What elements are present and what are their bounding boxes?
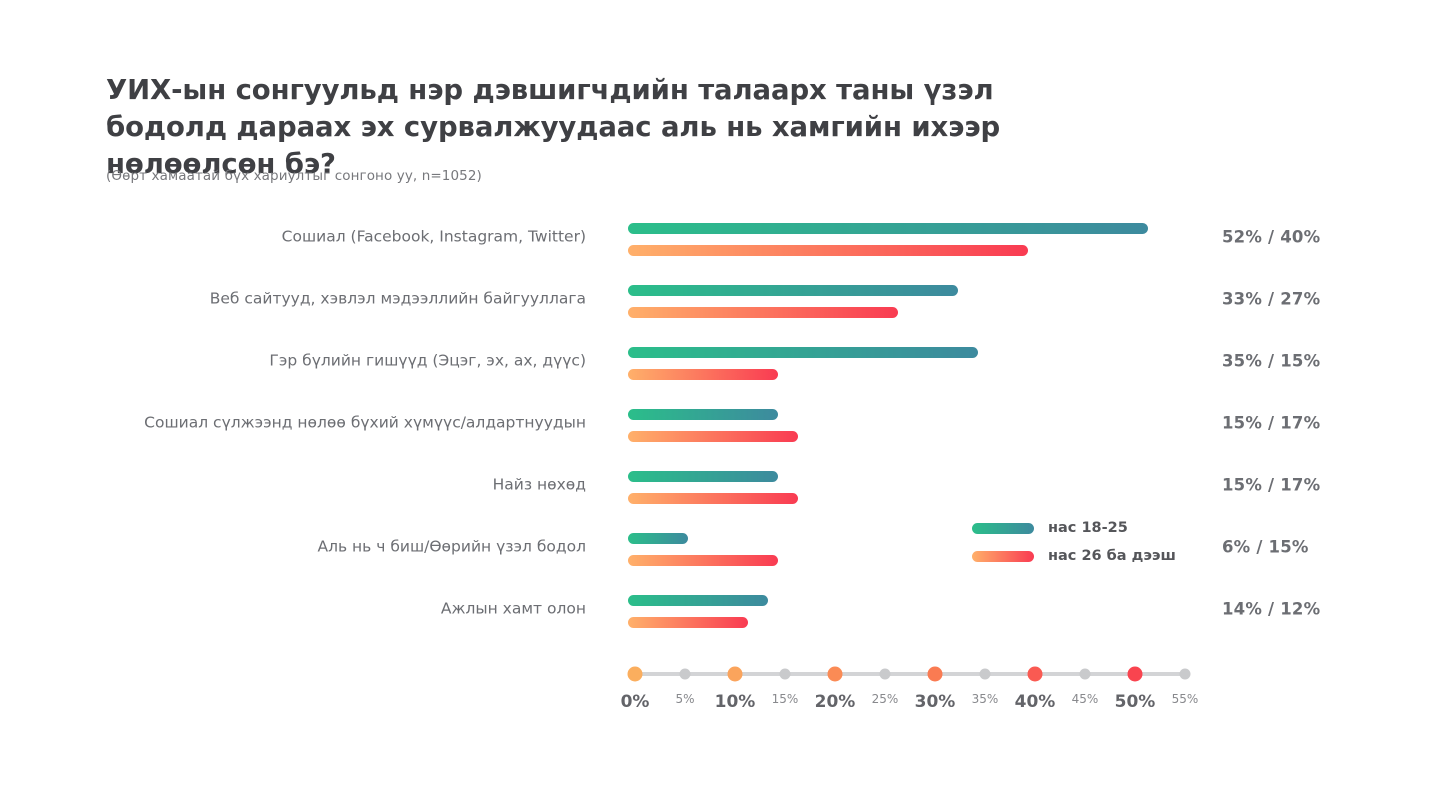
- axis-tick-dot-major: [928, 667, 943, 682]
- bar-series-1[interactable]: [628, 223, 1148, 234]
- axis-tick-label: 25%: [872, 692, 899, 706]
- axis-tick-label: 10%: [715, 692, 756, 712]
- bar-series-1[interactable]: [628, 595, 768, 606]
- category-label: Сошиал сүлжээнд нөлөө бүхий хүмүүс/алдар…: [80, 413, 586, 432]
- axis-tick-dot-major: [728, 667, 743, 682]
- axis-tick-dot-major: [628, 667, 643, 682]
- axis-tick-dot-minor: [980, 669, 991, 680]
- row-value-label: 14% / 12%: [1222, 600, 1320, 619]
- axis-tick-label: 35%: [972, 692, 999, 706]
- chart-row: Веб сайтууд, хэвлэл мэдээллийн байгуулла…: [0, 268, 1440, 330]
- row-value-label: 33% / 27%: [1222, 290, 1320, 309]
- chart-row: Гэр бүлийн гишүүд (Эцэг, эх, ах, дүүс)35…: [0, 330, 1440, 392]
- bar-series-2[interactable]: [628, 493, 798, 504]
- axis-tick-label: 55%: [1172, 692, 1199, 706]
- bar-series-2[interactable]: [628, 617, 748, 628]
- axis-tick-dot-minor: [1080, 669, 1091, 680]
- axis-tick-dot-minor: [880, 669, 891, 680]
- bar-group: [628, 468, 1228, 502]
- chart-row: Сошиал (Facebook, Instagram, Twitter)52%…: [0, 206, 1440, 268]
- bar-series-1[interactable]: [628, 471, 778, 482]
- axis-tick-label: 0%: [621, 692, 650, 712]
- axis-line: [635, 672, 1185, 676]
- axis-tick-label: 5%: [675, 692, 694, 706]
- axis-tick-label: 20%: [815, 692, 856, 712]
- bar-series-2[interactable]: [628, 245, 1028, 256]
- axis-tick-label: 40%: [1015, 692, 1056, 712]
- bar-series-2[interactable]: [628, 431, 798, 442]
- axis-tick-dot-major: [1028, 667, 1043, 682]
- legend-swatch-icon: [972, 551, 1034, 562]
- category-label: Аль нь ч биш/Өөрийн үзэл бодол: [80, 537, 586, 556]
- chart-row: Найз нөхөд15% / 17%: [0, 454, 1440, 516]
- bar-series-2[interactable]: [628, 369, 778, 380]
- chart-page: УИХ-ын сонгуульд нэр дэвшигчдийн талаарх…: [0, 0, 1440, 810]
- bar-group: [628, 220, 1228, 254]
- chart-row: Сошиал сүлжээнд нөлөө бүхий хүмүүс/алдар…: [0, 392, 1440, 454]
- axis-tick-label: 15%: [772, 692, 799, 706]
- category-label: Гэр бүлийн гишүүд (Эцэг, эх, ах, дүүс): [80, 351, 586, 370]
- bar-group: [628, 282, 1228, 316]
- bar-series-2[interactable]: [628, 307, 898, 318]
- chart-row: Аль нь ч биш/Өөрийн үзэл бодол6% / 15%: [0, 516, 1440, 578]
- axis-tick-dot-minor: [680, 669, 691, 680]
- bar-series-2[interactable]: [628, 555, 778, 566]
- axis-tick-label: 50%: [1115, 692, 1156, 712]
- chart-legend: нас 18-25нас 26 ба дээш: [972, 514, 1212, 570]
- bar-series-1[interactable]: [628, 533, 688, 544]
- legend-swatch-icon: [972, 523, 1034, 534]
- category-label: Сошиал (Facebook, Instagram, Twitter): [80, 227, 586, 246]
- bar-group: [628, 344, 1228, 378]
- bar-group: [628, 592, 1228, 626]
- axis-tick-dot-major: [828, 667, 843, 682]
- bar-series-1[interactable]: [628, 285, 958, 296]
- x-axis: 0%5%10%15%20%25%30%35%40%45%50%55%: [0, 656, 1440, 726]
- legend-item[interactable]: нас 26 ба дээш: [972, 542, 1212, 570]
- axis-tick-dot-minor: [1180, 669, 1191, 680]
- category-label: Ажлын хамт олон: [80, 599, 586, 618]
- row-value-label: 52% / 40%: [1222, 228, 1320, 247]
- axis-tick-label: 45%: [1072, 692, 1099, 706]
- legend-label: нас 26 ба дээш: [1048, 548, 1176, 564]
- legend-item[interactable]: нас 18-25: [972, 514, 1212, 542]
- row-value-label: 35% / 15%: [1222, 352, 1320, 371]
- row-value-label: 15% / 17%: [1222, 414, 1320, 433]
- row-value-label: 6% / 15%: [1222, 538, 1309, 557]
- category-label: Веб сайтууд, хэвлэл мэдээллийн байгуулла…: [80, 289, 586, 308]
- bar-series-1[interactable]: [628, 409, 778, 420]
- row-value-label: 15% / 17%: [1222, 476, 1320, 495]
- legend-label: нас 18-25: [1048, 520, 1128, 536]
- bar-series-1[interactable]: [628, 347, 978, 358]
- axis-tick-label: 30%: [915, 692, 956, 712]
- chart-row: Ажлын хамт олон14% / 12%: [0, 578, 1440, 640]
- axis-tick-dot-major: [1128, 667, 1143, 682]
- category-label: Найз нөхөд: [80, 475, 586, 494]
- axis-tick-dot-minor: [780, 669, 791, 680]
- bar-group: [628, 406, 1228, 440]
